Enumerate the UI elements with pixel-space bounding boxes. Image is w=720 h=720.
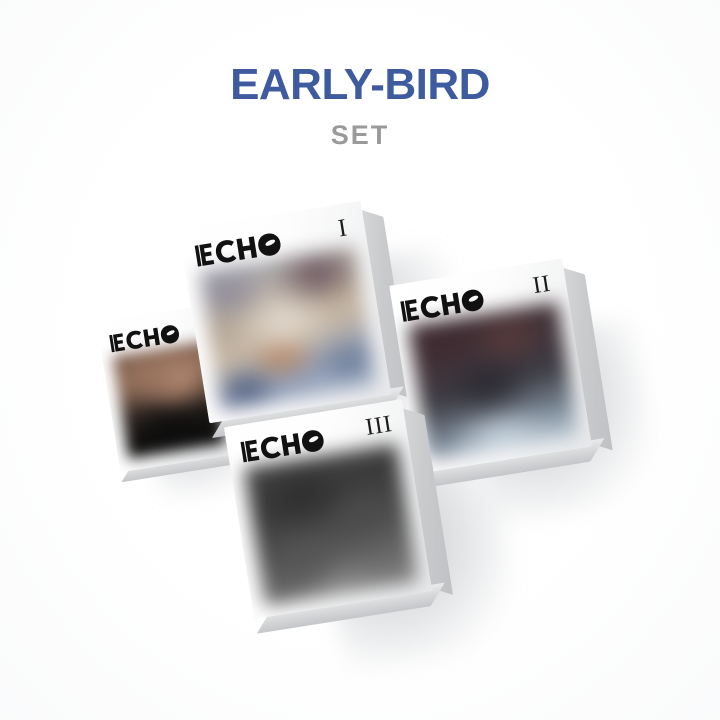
box-two-numeral: II [531,272,553,299]
heading-block: EARLY-BIRD SET [0,62,720,149]
box-one-artwork [199,246,377,411]
box-one-lid: I [179,201,391,423]
box-three-artwork [244,443,419,606]
box-three-lid: III [224,399,432,619]
product-box-three[interactable]: III [224,399,432,619]
page-subtitle: SET [0,122,720,149]
product-box-one[interactable]: I [179,201,391,423]
product-scene: EARLY-BIRD SET [0,0,720,720]
page-title: EARLY-BIRD [0,62,720,108]
box-three-numeral: III [364,412,394,440]
box-two-artwork [408,302,580,461]
